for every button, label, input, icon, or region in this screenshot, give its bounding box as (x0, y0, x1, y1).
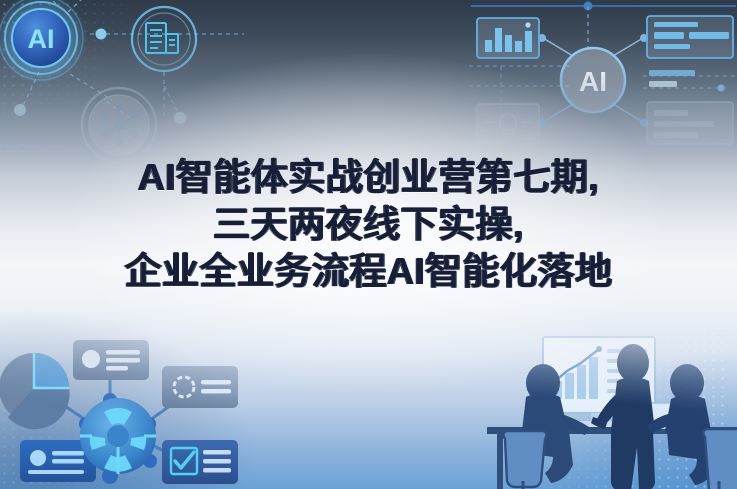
pie-chart-icon (0, 353, 70, 429)
promotional-poster: AI (0, 0, 737, 489)
text-lines-card-faded-icon (647, 102, 733, 144)
ai-node-network-svg: AI (0, 0, 244, 170)
hub-gear-icon (80, 398, 156, 474)
bar-chart-card-icon (477, 18, 539, 58)
business-meeting-svg (481, 321, 737, 489)
text-lines-card-icon (647, 16, 733, 58)
desk-leg (497, 434, 503, 489)
office-chair-left (503, 431, 546, 489)
decor-cluster-bottom-left (0, 328, 251, 489)
ai-badge-label: AI (28, 24, 55, 54)
connector-node-dot (96, 29, 107, 40)
profile-card-icon (73, 340, 149, 380)
network-node-icon-group (82, 88, 156, 162)
checkbox-card-icon (162, 440, 238, 484)
ai-hub-label: AI (579, 66, 607, 97)
document-report-icon (146, 23, 178, 53)
connector-node-dot (14, 104, 26, 116)
decor-cluster-top-left: AI (0, 0, 244, 170)
decor-cluster-bottom-right (481, 321, 737, 489)
document-icon-ring (132, 7, 196, 71)
gear-card-icon (162, 366, 238, 408)
text-lines-small-icon (649, 70, 695, 87)
seated-person-right (647, 364, 715, 485)
connector-node-dot (174, 112, 186, 124)
business-process-hub-svg (0, 328, 251, 489)
lightbulb-card-icon (477, 104, 539, 144)
ai-hub-dashboard-svg: AI (451, 0, 737, 169)
decor-cluster-top-right: AI (451, 0, 737, 169)
